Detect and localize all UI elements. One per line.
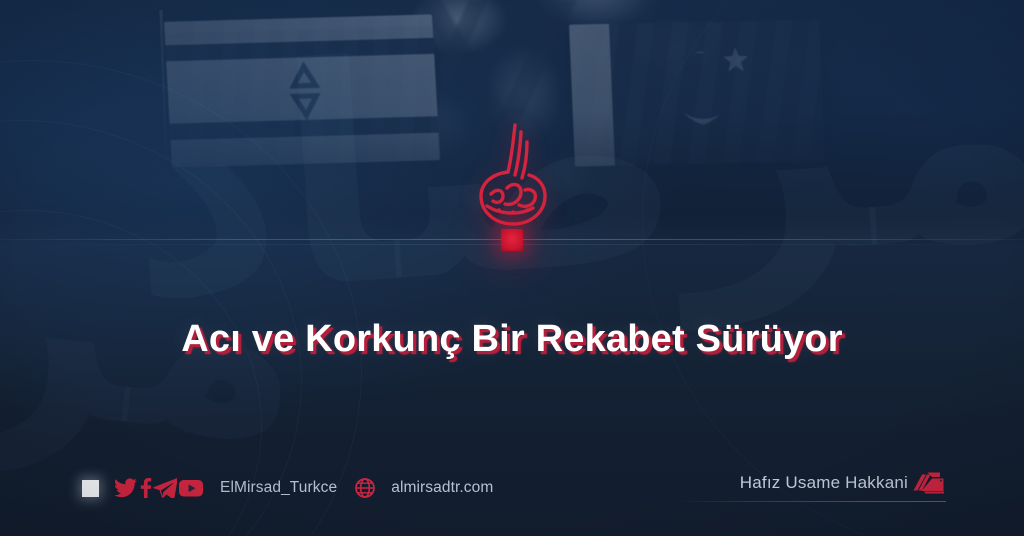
flag-wave-shading: [569, 19, 825, 166]
israel-flag: [164, 14, 440, 167]
twitter-icon[interactable]: [114, 478, 138, 498]
white-square-accent: [82, 480, 99, 497]
news-graphic-card: مرصاد مر Acı ve Korkunç Bir Rekabet Sürü…: [0, 0, 1024, 536]
globe-icon: [355, 478, 375, 498]
social-icon-group: [114, 478, 204, 498]
star-of-david-icon: [274, 61, 335, 121]
author-name: Hafız Usame Hakkani: [740, 473, 908, 493]
author-block: Hafız Usame Hakkani: [676, 470, 946, 504]
social-bar: ElMirsad_Turkce almirsadtr.com: [82, 474, 493, 502]
social-handle[interactable]: ElMirsad_Turkce: [220, 479, 337, 497]
youtube-icon[interactable]: [178, 478, 204, 498]
elmirsad-calligraphy-logo-icon: [469, 122, 555, 228]
writing-hand-pen-icon: [912, 471, 946, 497]
pakistan-flag: [569, 19, 825, 166]
website-url[interactable]: almirsadtr.com: [391, 479, 493, 497]
author-underline: [676, 501, 946, 503]
page-title: Acı ve Korkunç Bir Rekabet Sürüyor: [0, 318, 1024, 361]
brand-logo: [462, 120, 562, 228]
facebook-icon[interactable]: [139, 478, 152, 498]
telegram-icon[interactable]: [153, 478, 177, 498]
logo-red-square-accent: [501, 229, 523, 251]
